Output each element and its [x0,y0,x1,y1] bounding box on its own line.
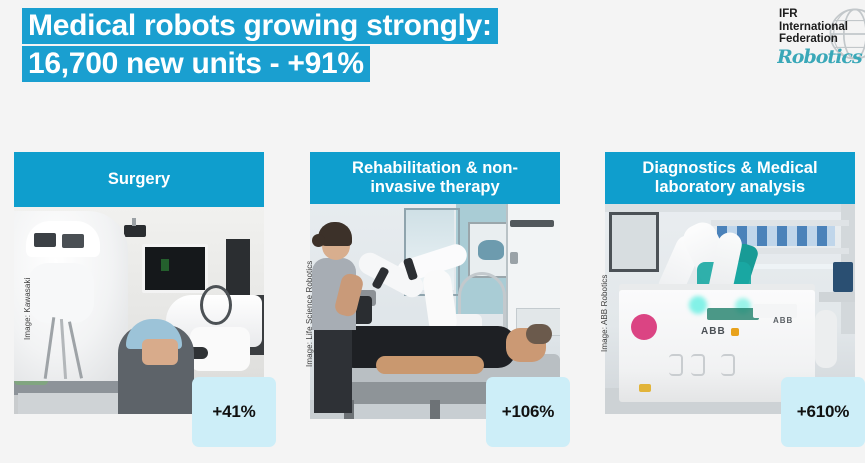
card-diagnostics-heading-line-2: laboratory analysis [655,178,805,196]
card-surgery-growth-badge: +41% [192,377,276,447]
logo-line-1: IFR [779,8,848,21]
card-diagnostics-growth-badge: +610% [781,377,865,447]
card-surgery: Surgery [14,152,264,414]
ifr-logo: IFR International Federation Robotics [777,4,865,70]
card-rehabilitation: Rehabilitation & non- invasive therapy [310,152,560,419]
card-diagnostics-credit: Image: ABB Robotics [600,275,609,353]
abb-brand-mark-secondary: ABB [773,316,793,325]
card-rehabilitation-heading-line-2: invasive therapy [370,178,499,196]
card-rehabilitation-credit: Image: Life Science Robotics [305,261,314,367]
card-surgery-credit: Image: Kawasaki [23,278,32,340]
abb-brand-mark: ABB [701,326,726,337]
ceiling-camera-icon [124,225,146,237]
card-rehabilitation-growth-badge: +106% [486,377,570,447]
logo-text: IFR International Federation [779,8,848,46]
logo-script-robotics: Robotics [777,46,862,68]
card-diagnostics-heading: Diagnostics & Medical laboratory analysi… [605,152,855,204]
card-diagnostics-heading-line-1: Diagnostics & Medical [642,159,817,177]
logo-line-3: Federation [779,33,848,46]
card-rehabilitation-heading: Rehabilitation & non- invasive therapy [310,152,560,204]
card-rehabilitation-heading-line-1: Rehabilitation & non- [352,159,518,177]
card-surgery-heading: Surgery [14,152,264,207]
slide-root: Medical robots growing strongly: 16,700 … [0,0,865,463]
card-diagnostics: Diagnostics & Medical laboratory analysi… [605,152,855,414]
logo-line-2: International [779,21,848,34]
title-line-2: 16,700 new units - +91% [22,46,370,82]
page-title: Medical robots growing strongly: 16,700 … [22,8,642,82]
title-line-1: Medical robots growing strongly: [22,8,498,44]
monitor-icon [142,244,208,293]
